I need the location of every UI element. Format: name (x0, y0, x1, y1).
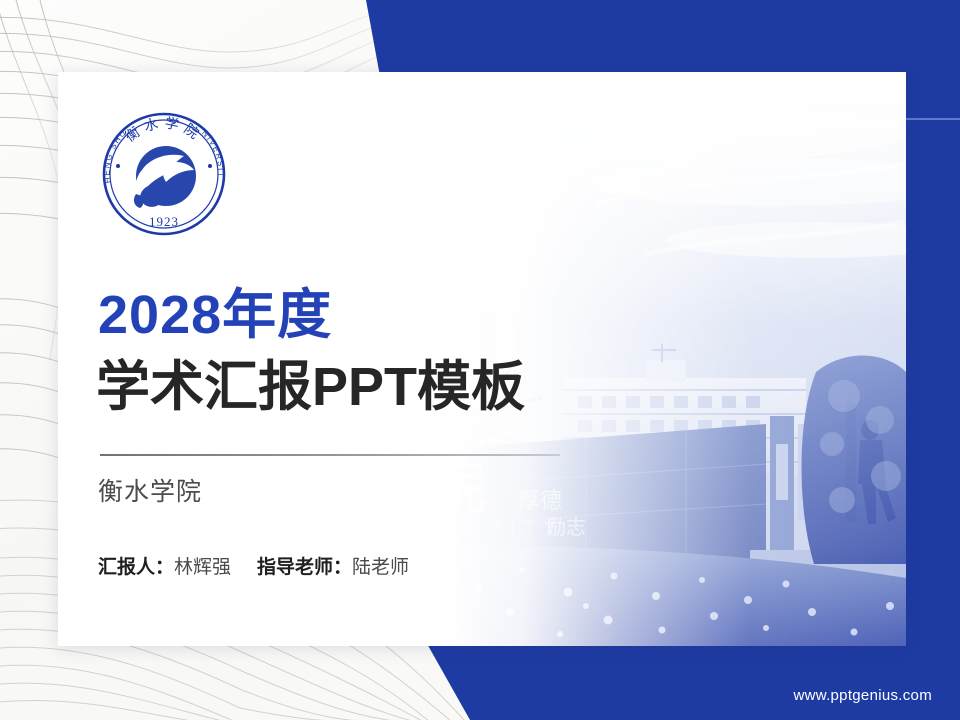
slide-canvas: 院 厚德 励志 UNIVERSITY (0, 0, 960, 720)
card-content: 衡水学院 HENG SHUI UNIVERSITY 1923 2028年度 学术… (58, 72, 578, 646)
credits-line: 汇报人：林辉强指导老师：陆老师 (98, 552, 409, 579)
slide-card: 院 厚德 励志 UNIVERSITY (58, 72, 906, 646)
svg-text:1923: 1923 (149, 214, 179, 229)
title-year: 2028年度 (98, 288, 332, 342)
advisor-value: 陆老师 (352, 557, 409, 578)
advisor-label: 指导老师： (257, 557, 352, 578)
presenter-value: 林辉强 (174, 557, 231, 578)
footer-website-url[interactable]: www.pptgenius.com (794, 687, 933, 704)
subtitle-university-name: 衡水学院 (98, 472, 202, 508)
page-title: 学术汇报PPT模板 (96, 360, 525, 414)
university-logo: 衡水学院 HENG SHUI UNIVERSITY 1923 (98, 108, 230, 240)
title-divider (100, 454, 560, 456)
heng-shui-university-seal-icon: 衡水学院 HENG SHUI UNIVERSITY 1923 (98, 108, 230, 240)
presenter-label: 汇报人： (98, 557, 174, 578)
